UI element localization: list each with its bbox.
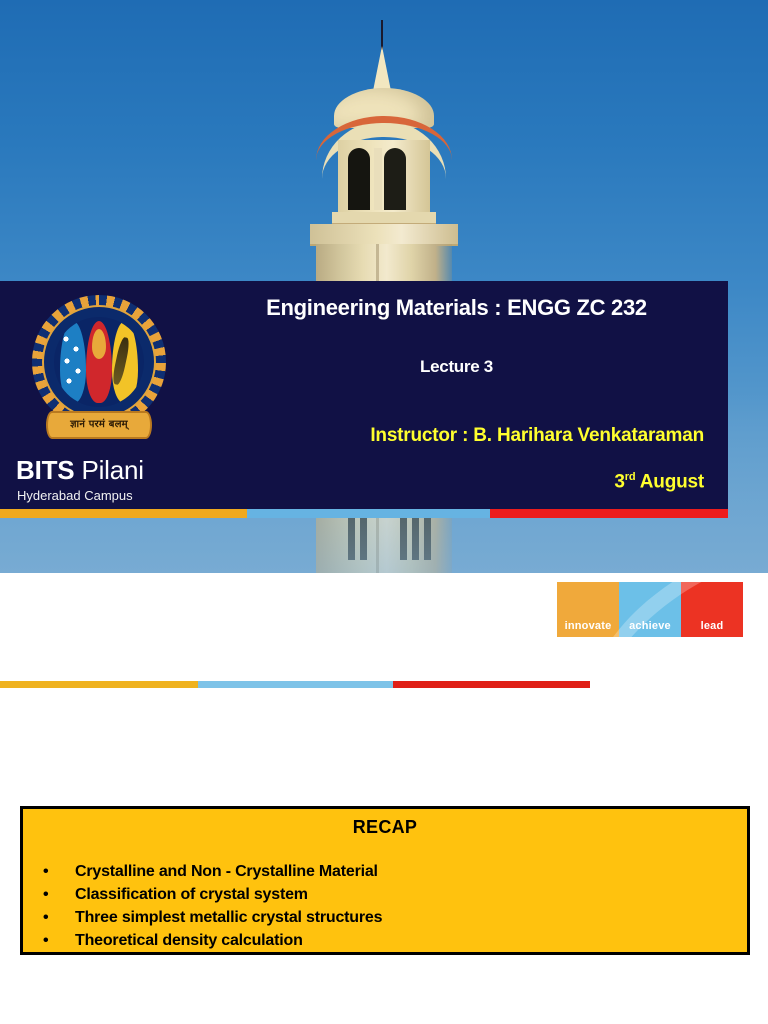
logo-cell-lead: lead [681,582,743,637]
title-text-block: Engineering Materials : ENGG ZC 232 Lect… [195,295,718,493]
bullet-glyph: • [37,906,75,929]
body-tricolor-rule [0,681,590,688]
bullet-glyph: • [37,929,75,952]
innovate-achieve-lead-logo: innovate achieve lead [557,582,743,637]
lecture-number-label: Lecture 3 [195,357,718,377]
bits-pilani-branding: ज्ञानं परमं बलम् BITS Pilani Hyderabad C… [12,293,192,503]
cupola-arch-left [348,148,370,210]
recap-item-text: Classification of crystal system [75,883,308,906]
instructor-label: Instructor : B. Harihara Venkataraman [195,425,718,447]
course-title: Engineering Materials : ENGG ZC 232 [195,295,718,321]
bits-pilani-crest-icon: ज्ञानं परमं बलम् [24,293,174,445]
body-rule-yellow-segment [0,681,198,688]
list-item: • Crystalline and Non - Crystalline Mate… [37,860,747,883]
crest-constellation-dots [62,333,84,389]
cupola-column [374,148,382,210]
body-rule-red-segment [393,681,590,688]
recap-item-text: Crystalline and Non - Crystalline Materi… [75,860,378,883]
recap-item-text: Theoretical density calculation [75,929,303,952]
cupola-arch-right [384,148,406,210]
lecture-date-month: August [640,471,704,492]
bullet-glyph: • [37,883,75,906]
bullet-glyph: • [37,860,75,883]
crest-shield [54,317,144,407]
panel-rule-red-segment [490,509,728,518]
list-item: • Three simplest metallic crystal struct… [37,906,747,929]
recap-box: RECAP • Crystalline and Non - Crystallin… [20,806,750,955]
brand-wordmark: BITS Pilani [16,455,192,486]
title-panel: ज्ञानं परमं बलम् BITS Pilani Hyderabad C… [0,281,728,509]
body-rule-blue-segment [198,681,393,688]
recap-heading: RECAP [23,817,747,838]
brand-campus-label: Hyderabad Campus [17,488,192,503]
lecture-date-number: 3 [614,471,624,492]
panel-rule-yellow-segment [0,509,247,518]
list-item: • Classification of crystal system [37,883,747,906]
lecture-date-ordinal: rd [625,471,636,483]
logo-cell-innovate: innovate [557,582,619,637]
tower-cornice [310,224,458,246]
panel-tricolor-rule [0,509,728,518]
crest-motto-scroll: ज्ञानं परमं बलम् [46,411,152,439]
logo-label-innovate: innovate [565,620,612,632]
logo-label-lead: lead [701,620,724,632]
crest-lamp-icon [92,329,106,359]
brand-wordmark-bits: BITS [16,455,74,485]
logo-label-achieve: achieve [629,620,671,632]
lecture-date: 3rd August [195,471,718,493]
logo-cell-achieve: achieve [619,582,681,637]
recap-item-text: Three simplest metallic crystal structur… [75,906,382,929]
presentation-slide: ज्ञानं परमं बलम् BITS Pilani Hyderabad C… [0,0,768,1024]
list-item: • Theoretical density calculation [37,929,747,952]
brand-wordmark-pilani: Pilani [74,455,143,485]
recap-list: • Crystalline and Non - Crystalline Mate… [37,860,747,952]
panel-rule-blue-segment [247,509,490,518]
